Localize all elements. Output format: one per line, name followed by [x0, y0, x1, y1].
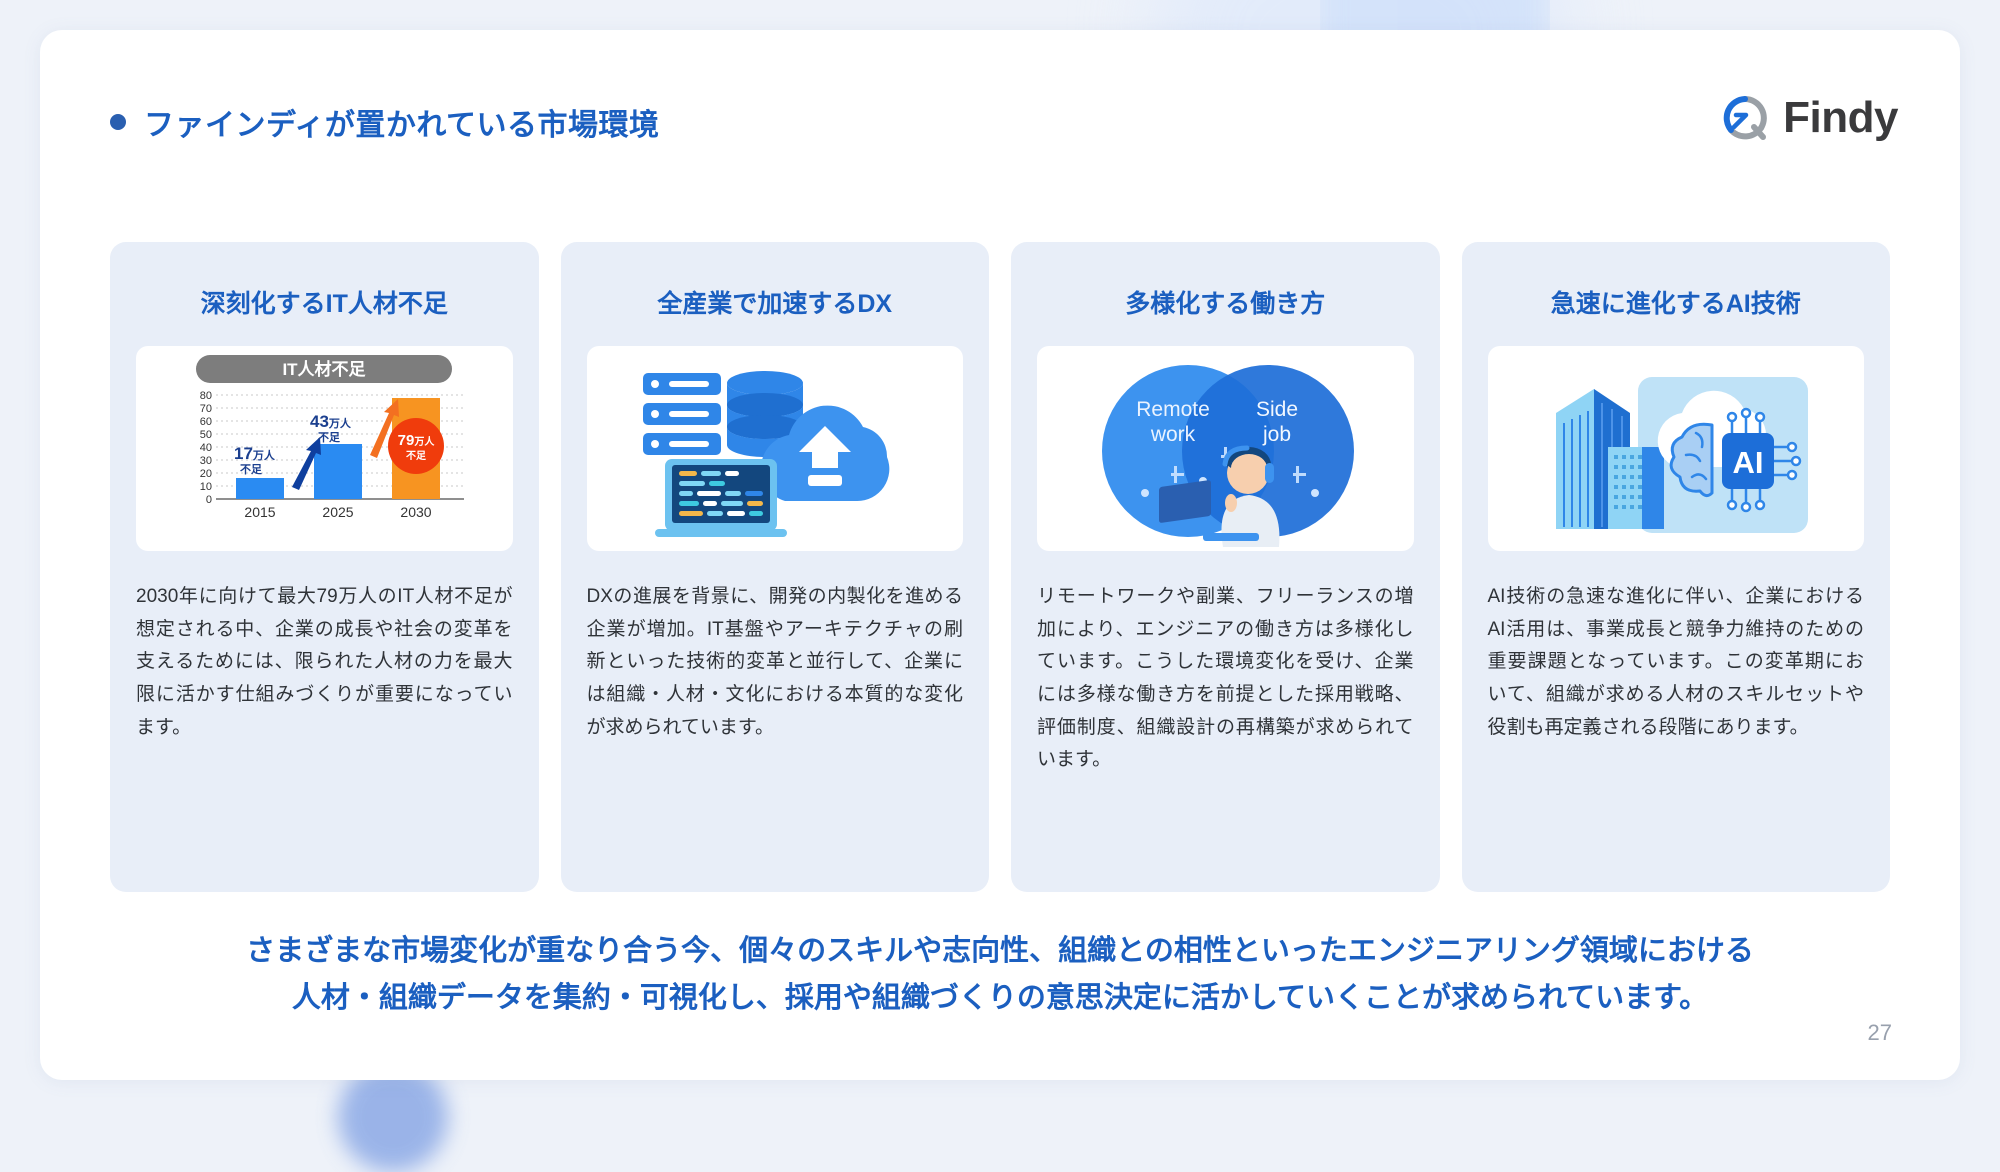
x-axis-tick: 2015	[245, 504, 276, 520]
y-axis-tick: 10	[200, 481, 212, 493]
card-dx: 全産業で加速するDX	[561, 242, 990, 892]
summary-line-1: さまざまな市場変化が重なり合う今、個々のスキルや志向性、組織との相性といったエン…	[40, 928, 1960, 975]
findy-logo-mark-icon	[1721, 94, 1769, 142]
y-axis-tick: 0	[206, 494, 212, 506]
svg-text:work: work	[1150, 423, 1196, 446]
svg-text:不足: 不足	[318, 431, 341, 444]
it-shortage-bar-chart: IT人材不足 01020304050607080	[136, 346, 513, 551]
dx-cloud-server-illustration	[587, 346, 964, 551]
card-body-text: 2030年に向けて最大79万人のIT人材不足が想定される中、企業の成長や社会の変…	[136, 581, 513, 744]
page-number: 27	[1868, 1020, 1892, 1046]
remote-work-side-job-venn: Remote work Side job	[1037, 346, 1414, 551]
card-body-text: リモートワークや副業、フリーランスの増加により、エンジニアの働き方は多様化してい…	[1037, 581, 1414, 777]
y-axis-tick: 70	[200, 403, 212, 415]
svg-text:job: job	[1262, 423, 1291, 446]
x-axis-tick: 2025	[323, 504, 354, 520]
market-environment-cards: 深刻化するIT人材不足 IT人材不足 01020304050607080	[110, 242, 1890, 892]
slide-header: ファインディが置かれている市場環境 Findy	[40, 30, 1960, 160]
card-work-styles: 多様化する働き方 Remote work Side job	[1011, 242, 1440, 892]
card-title: 急速に進化するAI技術	[1488, 284, 1865, 320]
laptop-code-icon	[655, 459, 787, 537]
summary-text: さまざまな市場変化が重なり合う今、個々のスキルや志向性、組織との相性といったエン…	[40, 928, 1960, 1022]
svg-text:Side: Side	[1256, 398, 1298, 421]
svg-text:不足: 不足	[406, 450, 427, 462]
y-axis-tick: 60	[200, 416, 212, 428]
findy-logo: Findy	[1721, 94, 1898, 142]
y-axis-tick: 20	[200, 468, 212, 480]
server-rack-icon	[643, 373, 721, 455]
card-ai: 急速に進化するAI技術	[1462, 242, 1891, 892]
page-title-wrap: ファインディが置かれている市場環境	[110, 100, 660, 144]
summary-line-2: 人材・組織データを集約・可視化し、採用や組織づくりの意思決定に活かしていくことが…	[40, 975, 1960, 1022]
bullet-icon	[110, 114, 126, 130]
card-it-shortage: 深刻化するIT人材不足 IT人材不足 01020304050607080	[110, 242, 539, 892]
svg-text:IT人材不足: IT人材不足	[283, 359, 366, 379]
card-title: 多様化する働き方	[1037, 284, 1414, 320]
svg-text:17万人: 17万人	[234, 444, 276, 463]
x-axis-tick: 2030	[401, 504, 432, 520]
svg-text:Remote: Remote	[1136, 398, 1210, 421]
svg-text:不足: 不足	[240, 463, 263, 476]
slide-container: ファインディが置かれている市場環境 Findy 深刻化するIT人材不足	[40, 30, 1960, 1080]
y-axis-tick: 40	[200, 442, 212, 454]
y-axis-tick: 80	[200, 390, 212, 402]
svg-text:AI: AI	[1732, 445, 1763, 480]
card-body-text: AI技術の急速な進化に伴い、企業におけるAI活用は、事業成長と競争力維持のための…	[1488, 581, 1865, 744]
y-axis-tick: 30	[200, 455, 212, 467]
card-title: 全産業で加速するDX	[587, 284, 964, 320]
card-body-text: DXの進展を背景に、開発の内製化を進める企業が増加。IT基盤やアーキテクチャの刷…	[587, 581, 964, 744]
svg-text:43万人: 43万人	[310, 412, 352, 431]
page-title: ファインディが置かれている市場環境	[144, 100, 660, 144]
card-title: 深刻化するIT人材不足	[136, 284, 513, 320]
ai-brain-chip-building-illustration: AI	[1488, 346, 1865, 551]
findy-logo-text: Findy	[1783, 96, 1898, 140]
y-axis-tick: 50	[200, 429, 212, 441]
